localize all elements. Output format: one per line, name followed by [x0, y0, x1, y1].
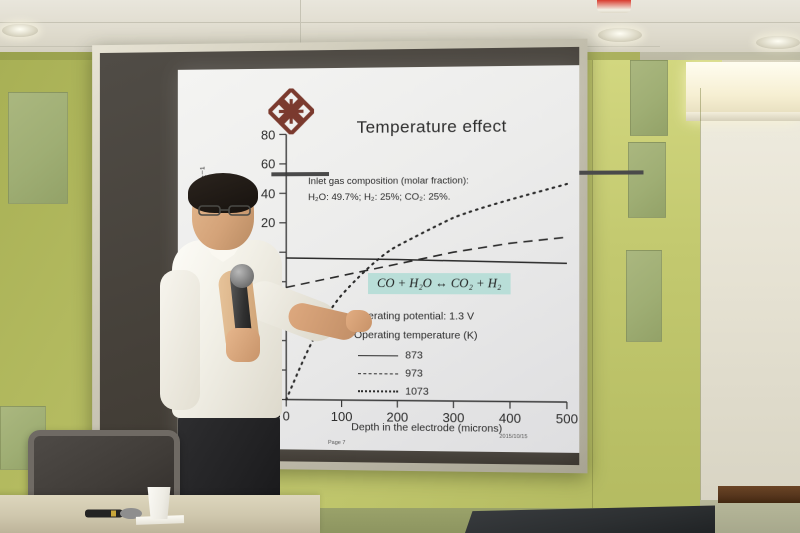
- far-wall: [700, 88, 800, 508]
- legend-item-973: 973: [358, 367, 423, 380]
- legend-label: 873: [405, 349, 423, 361]
- smoke-detector: [597, 0, 631, 13]
- svg-text:60: 60: [261, 156, 275, 171]
- legend-swatch-dashed-icon: [358, 373, 398, 374]
- floor-carpet: [700, 500, 800, 533]
- acoustic-panel: [628, 142, 666, 218]
- alcove-soffit: [686, 112, 800, 121]
- presenter-mic-hand: [226, 328, 260, 362]
- presenter-pointing-hand: [346, 310, 372, 332]
- ceiling-seam: [0, 22, 800, 23]
- legend-swatch-dotted-icon: [358, 390, 398, 392]
- presenter: [160, 178, 345, 533]
- ceiling-light: [598, 28, 642, 42]
- reaction-equation: CO + H₂O ↔ CO₂ + H₂: [368, 273, 511, 294]
- legend-label: 973: [405, 367, 423, 379]
- svg-text:80: 80: [261, 127, 275, 142]
- ceiling-light: [2, 24, 38, 37]
- legend-label: 1073: [405, 386, 429, 398]
- wood-baseboard: [718, 486, 800, 503]
- legend-item-1073: 1073: [358, 385, 429, 398]
- operating-potential-label: Operating potential: 1.3 V: [354, 310, 474, 323]
- ceiling-light: [756, 36, 800, 49]
- ceiling-seam: [300, 0, 301, 48]
- legend-swatch-solid-icon: [358, 355, 398, 356]
- acoustic-panel: [630, 60, 668, 136]
- acoustic-panel: [8, 92, 68, 204]
- presenter-left-arm: [160, 270, 200, 410]
- slide-rule-right: [579, 170, 643, 174]
- legend-title: Operating temperature (K): [354, 329, 478, 342]
- eyeglasses-icon: [198, 204, 252, 217]
- acoustic-panel: [626, 250, 662, 342]
- photo-scene: Temperature effect: [0, 0, 800, 533]
- slide-date: 2015/10/15: [499, 434, 527, 440]
- wall-corner: [592, 60, 593, 508]
- wall-corner: [700, 88, 701, 508]
- alcove-light: [686, 62, 800, 118]
- microphone-head-icon: [230, 264, 254, 288]
- legend-item-873: 873: [358, 349, 423, 361]
- table-microphone: [85, 508, 143, 519]
